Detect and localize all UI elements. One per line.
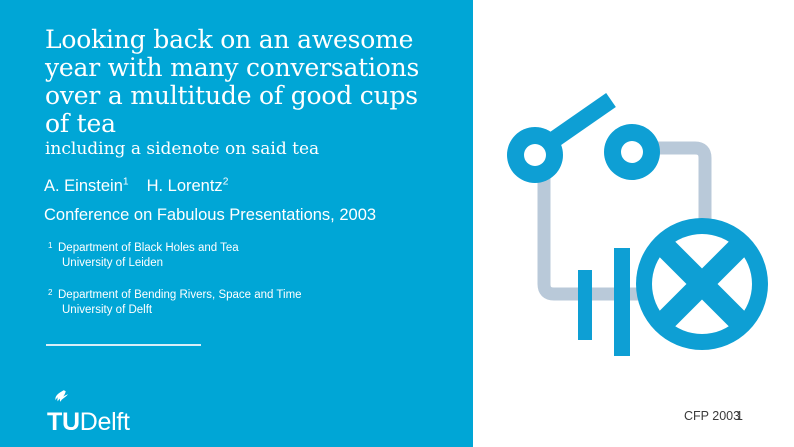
tudelft-wordmark: TUDelft bbox=[47, 410, 130, 435]
author-affiliation-marker: 1 bbox=[123, 177, 129, 188]
capacitor-plates-icon bbox=[578, 248, 630, 356]
tudelft-logo: TUDelft bbox=[47, 392, 130, 426]
affiliation-marker: 1 bbox=[48, 238, 52, 253]
logo-text-delft: Delft bbox=[80, 408, 130, 436]
tudelft-flame-icon bbox=[53, 390, 69, 405]
crossed-circle-motor-icon bbox=[636, 218, 768, 350]
page-title: Looking back on an awesome year with man… bbox=[45, 26, 445, 138]
page-subtitle: including a sidenote on said tea bbox=[45, 139, 445, 160]
conference-line: Conference on Fabulous Presentations, 20… bbox=[44, 205, 376, 226]
affiliation-entry: 2 Department of Bending Rivers, Space an… bbox=[48, 288, 302, 318]
author-list: A. Einstein1H. Lorentz2 bbox=[44, 176, 228, 197]
logo-text-tu: TU bbox=[47, 408, 80, 436]
affiliation-institution: University of Leiden bbox=[58, 256, 239, 271]
affiliation-institution: University of Delft bbox=[58, 303, 302, 318]
switch-lever-icon bbox=[507, 100, 611, 183]
author-name: H. Lorentz bbox=[147, 177, 223, 195]
divider-rule bbox=[46, 344, 201, 346]
affiliation-department: Department of Bending Rivers, Space and … bbox=[58, 288, 302, 303]
affiliation-department: Department of Black Holes and Tea bbox=[58, 241, 239, 256]
footer-conference: CFP 2003 bbox=[684, 404, 740, 428]
affiliation-marker: 2 bbox=[48, 285, 52, 300]
author-entry: A. Einstein1 bbox=[44, 177, 129, 195]
author-entry: H. Lorentz2 bbox=[147, 177, 229, 195]
terminal-ring-icon bbox=[604, 124, 660, 180]
electrical-circuit-illustration bbox=[497, 86, 777, 356]
presentation-slide: Looking back on an awesome year with man… bbox=[0, 0, 794, 447]
slide-footer: CFP 2003 1 bbox=[473, 404, 794, 428]
author-affiliation-marker: 2 bbox=[223, 177, 229, 188]
title-panel: Looking back on an awesome year with man… bbox=[0, 0, 473, 447]
affiliation-entry: 1 Department of Black Holes and Tea Univ… bbox=[48, 241, 239, 271]
footer-page-number: 1 bbox=[736, 404, 743, 428]
author-name: A. Einstein bbox=[44, 177, 123, 195]
